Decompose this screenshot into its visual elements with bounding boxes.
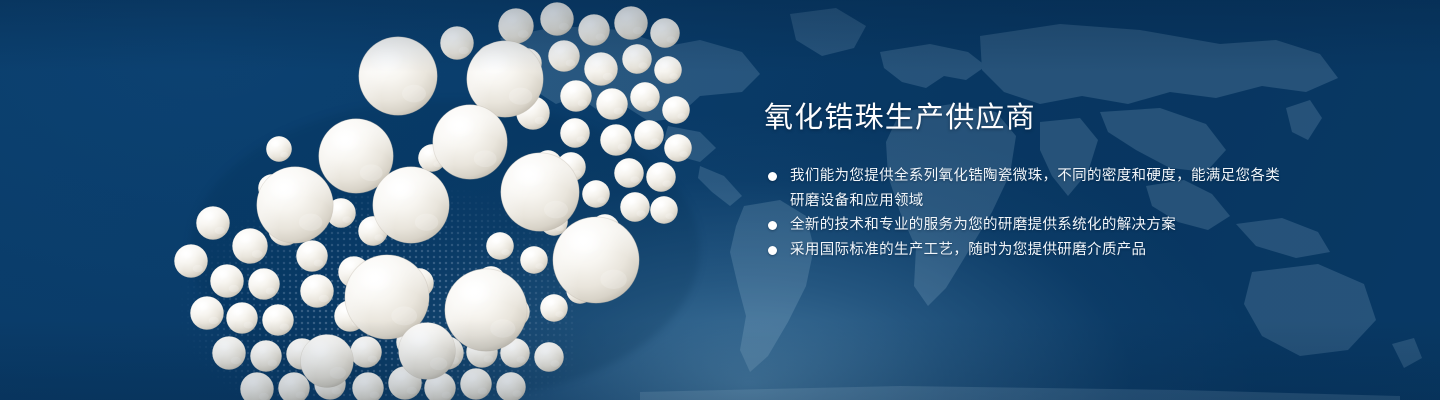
bullet-item: 全新的技术和专业的服务为您的研磨提供系统化的解决方案 xyxy=(762,213,1282,238)
bullet-text: 我们能为您提供全系列氧化锆陶瓷微珠，不同的密度和硬度，能满足您各类研磨设备和应用… xyxy=(790,164,1282,213)
banner-headline: 氧化锆珠生产供应商 xyxy=(764,100,1282,134)
bullet-dot-icon xyxy=(768,172,777,181)
banner-copy: 氧化锆珠生产供应商 我们能为您提供全系列氧化锆陶瓷微珠，不同的密度和硬度，能满足… xyxy=(762,100,1282,262)
bullet-text: 全新的技术和专业的服务为您的研磨提供系统化的解决方案 xyxy=(790,213,1282,238)
bullet-dot-icon xyxy=(768,246,777,255)
banner-bullet-list: 我们能为您提供全系列氧化锆陶瓷微珠，不同的密度和硬度，能满足您各类研磨设备和应用… xyxy=(762,164,1282,262)
bullet-item: 采用国际标准的生产工艺，随时为您提供研磨介质产品 xyxy=(762,238,1282,263)
bullet-dot-icon xyxy=(768,221,777,230)
hero-banner: 氧化锆珠生产供应商 我们能为您提供全系列氧化锆陶瓷微珠，不同的密度和硬度，能满足… xyxy=(0,0,1440,400)
bullet-text: 采用国际标准的生产工艺，随时为您提供研磨介质产品 xyxy=(790,238,1282,263)
bullet-item: 我们能为您提供全系列氧化锆陶瓷微珠，不同的密度和硬度，能满足您各类研磨设备和应用… xyxy=(762,164,1282,213)
